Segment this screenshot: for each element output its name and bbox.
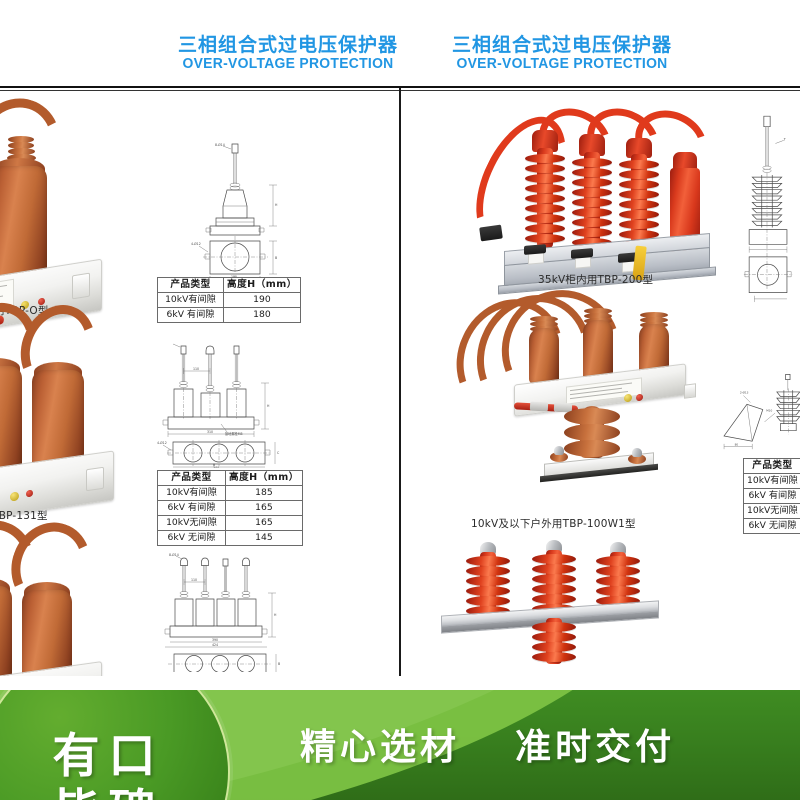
svg-text:8-Ø14: 8-Ø14: [215, 142, 225, 147]
svg-text:110: 110: [191, 578, 197, 582]
table-row: 10kV有间隙 190: [158, 293, 301, 308]
svg-text:B: B: [275, 256, 277, 260]
product-photo-tbp-131: [0, 318, 138, 518]
base-mount-tab: [86, 467, 104, 492]
svg-text:H: H: [275, 203, 278, 207]
table-row: 6kV 有间隙: [744, 489, 800, 504]
svg-text:110: 110: [193, 367, 199, 371]
svg-text:接地螺栓M8: 接地螺栓M8: [225, 431, 243, 436]
banner-circle-line-1: 有口: [44, 729, 165, 785]
arrester-unit-2: [571, 134, 613, 252]
table-row: 6kV 无间隙 145: [158, 531, 303, 546]
header-right-title: 三相组合式过电压保护器 OVER-VOLTAGE PROTECTION: [452, 34, 672, 73]
table-row: 10kV有间隙 185: [158, 486, 303, 501]
cad-drawing-single-unit: 8-Ø14 4-Ø12: [165, 140, 305, 280]
slogan-left: 精心选材: [300, 727, 460, 768]
svg-text:80: 80: [735, 443, 739, 447]
cad-drawing-outdoor-unit: T: [734, 112, 800, 322]
svg-text:4-Ø12: 4-Ø12: [157, 440, 167, 445]
banner-slogan: 精心选材 准时交付: [300, 718, 770, 770]
right-panel: 35kV柜内用TBP-200型: [401, 90, 800, 690]
bolt-right: [632, 448, 642, 457]
cad-drawing-four-unit: 8-Ø14: [160, 552, 320, 672]
arrester-body-left: [0, 586, 12, 682]
cad-drawing-three-unit: 接地螺栓M8 110 H 310: [155, 338, 315, 468]
arrester-body-1: [529, 328, 559, 384]
outdoor-insulator-1: [463, 542, 513, 618]
housing-end-tab: [684, 383, 696, 398]
spec-table-2: 产品类型 高度H（mm） 10kV有间隙 185 6kV 有间隙 165 10k…: [157, 470, 303, 546]
cell-height: 145: [226, 531, 303, 546]
col-header-height: 高度H（mm）: [226, 471, 303, 486]
product-photo-outdoor-set: [441, 538, 731, 668]
svg-text:8-Ø14: 8-Ø14: [169, 552, 179, 557]
cell-type: 10kV有间隙: [744, 474, 800, 489]
lug-left: [530, 402, 548, 412]
cell-type: 10kV无间隙: [158, 516, 226, 531]
table-row: 6kV 有间隙 165: [158, 501, 303, 516]
cell-height: 185: [226, 486, 303, 501]
cell-type: 6kV 有间隙: [158, 308, 224, 323]
svg-text:C: C: [277, 451, 280, 455]
svg-text:424: 424: [212, 643, 218, 647]
lug-2: [571, 248, 593, 259]
header-right-title-cn: 三相组合式过电压保护器: [452, 34, 672, 56]
table-row: 6kV 有间隙 180: [158, 308, 301, 323]
header-left-title-cn: 三相组合式过电压保护器: [178, 34, 398, 56]
banner-circle-text: 有口 皆碑: [0, 690, 230, 800]
svg-text:390: 390: [212, 638, 218, 642]
insulator-skirt-2: [564, 424, 620, 441]
banner-circle-line-2: 皆碑: [44, 785, 165, 800]
page-header: 三相组合式过电压保护器 OVER-VOLTAGE PROTECTION 三相组合…: [0, 0, 800, 88]
cell-type: 6kV 有间隙: [744, 489, 800, 504]
outdoor-insulator-front: [529, 618, 579, 666]
svg-text:H: H: [267, 404, 270, 408]
insulator-skirt-3: [564, 440, 620, 457]
product-photo-tbp-200: [476, 108, 726, 298]
svg-text:B: B: [278, 662, 280, 666]
cell-type: 10kV有间隙: [158, 486, 226, 501]
table-row: 10kV无间隙: [744, 504, 800, 519]
svg-text:T: T: [783, 137, 787, 141]
col-header-type: 产品类型: [158, 471, 226, 486]
spec-table-1: 产品类型 高度H（mm） 10kV有间隙 190 6kV 有间隙 180: [157, 277, 301, 323]
svg-text:M10: M10: [766, 408, 772, 412]
arrester-body: [0, 166, 47, 284]
cad-drawing-bracket: 2-Ø13 M10 80: [717, 372, 800, 470]
bolt-left: [554, 446, 564, 455]
left-panel: 点保护用TBP-O型 8-Ø14: [0, 90, 399, 690]
cell-height: 165: [226, 501, 303, 516]
svg-text:H: H: [274, 613, 277, 617]
col-header-height: 高度H（mm）: [224, 278, 301, 293]
arrester-unit-1: [524, 130, 566, 250]
svg-text:4-Ø12: 4-Ø12: [191, 241, 201, 246]
cell-type: 6kV 无间隙: [744, 519, 800, 534]
cell-type: 6kV 无间隙: [158, 531, 226, 546]
table-row: 6kV 无间隙: [744, 519, 800, 534]
lug-1: [524, 244, 546, 255]
caption-tbp-100w1: 10kV及以下户外用TBP-100W1型: [471, 516, 636, 531]
poster-page: 三相组合式过电压保护器 OVER-VOLTAGE PROTECTION 三相组合…: [0, 0, 800, 800]
product-photo-bottom-left: [0, 530, 126, 700]
caption-tbp-200: 35kV柜内用TBP-200型: [538, 272, 653, 287]
table-row: 10kV无间隙 165: [158, 516, 303, 531]
base-mount-tab: [72, 273, 90, 300]
product-photo-tbp-o: [0, 112, 134, 312]
cell-height: 190: [224, 293, 301, 308]
cell-type: 10kV有间隙: [158, 293, 224, 308]
cell-type: 10kV无间隙: [744, 504, 800, 519]
product-photo-tbp-100w1: [456, 302, 706, 502]
table-header-row: 产品类型 高度H（mm）: [158, 278, 301, 293]
arrester-body-left: [0, 366, 22, 474]
spec-table-3: 产品类型 高度H 10kV有间隙 6kV 有间隙 10kV无间隙 6kV 无间隙: [743, 458, 800, 534]
svg-text:310: 310: [207, 430, 213, 434]
header-left-title-en: OVER-VOLTAGE PROTECTION: [182, 56, 393, 73]
arrester-unit-3: [618, 138, 660, 250]
cell-type: 6kV 有间隙: [158, 501, 226, 516]
cell-height: 180: [224, 308, 301, 323]
svg-text:2-Ø13: 2-Ø13: [740, 390, 749, 395]
table-header-row: 产品类型 高度H（mm）: [158, 471, 303, 486]
table-row: 10kV有间隙: [744, 474, 800, 489]
insulator-skirt-1: [564, 408, 620, 425]
header-left-title: 三相组合式过电压保护器 OVER-VOLTAGE PROTECTION: [178, 34, 398, 73]
cell-height: 165: [226, 516, 303, 531]
caption-tbp-131: 柜内用TBP-131型: [0, 508, 48, 523]
col-header-type: 产品类型: [158, 278, 224, 293]
col-header-type: 产品类型: [744, 459, 800, 474]
header-right-title-en: OVER-VOLTAGE PROTECTION: [456, 56, 667, 73]
table-header-row: 产品类型 高度H: [744, 459, 800, 474]
promo-banner: 有口 皆碑 精心选材 准时交付: [0, 690, 800, 800]
svg-text:344: 344: [213, 466, 219, 468]
slogan-right: 准时交付: [515, 727, 675, 768]
